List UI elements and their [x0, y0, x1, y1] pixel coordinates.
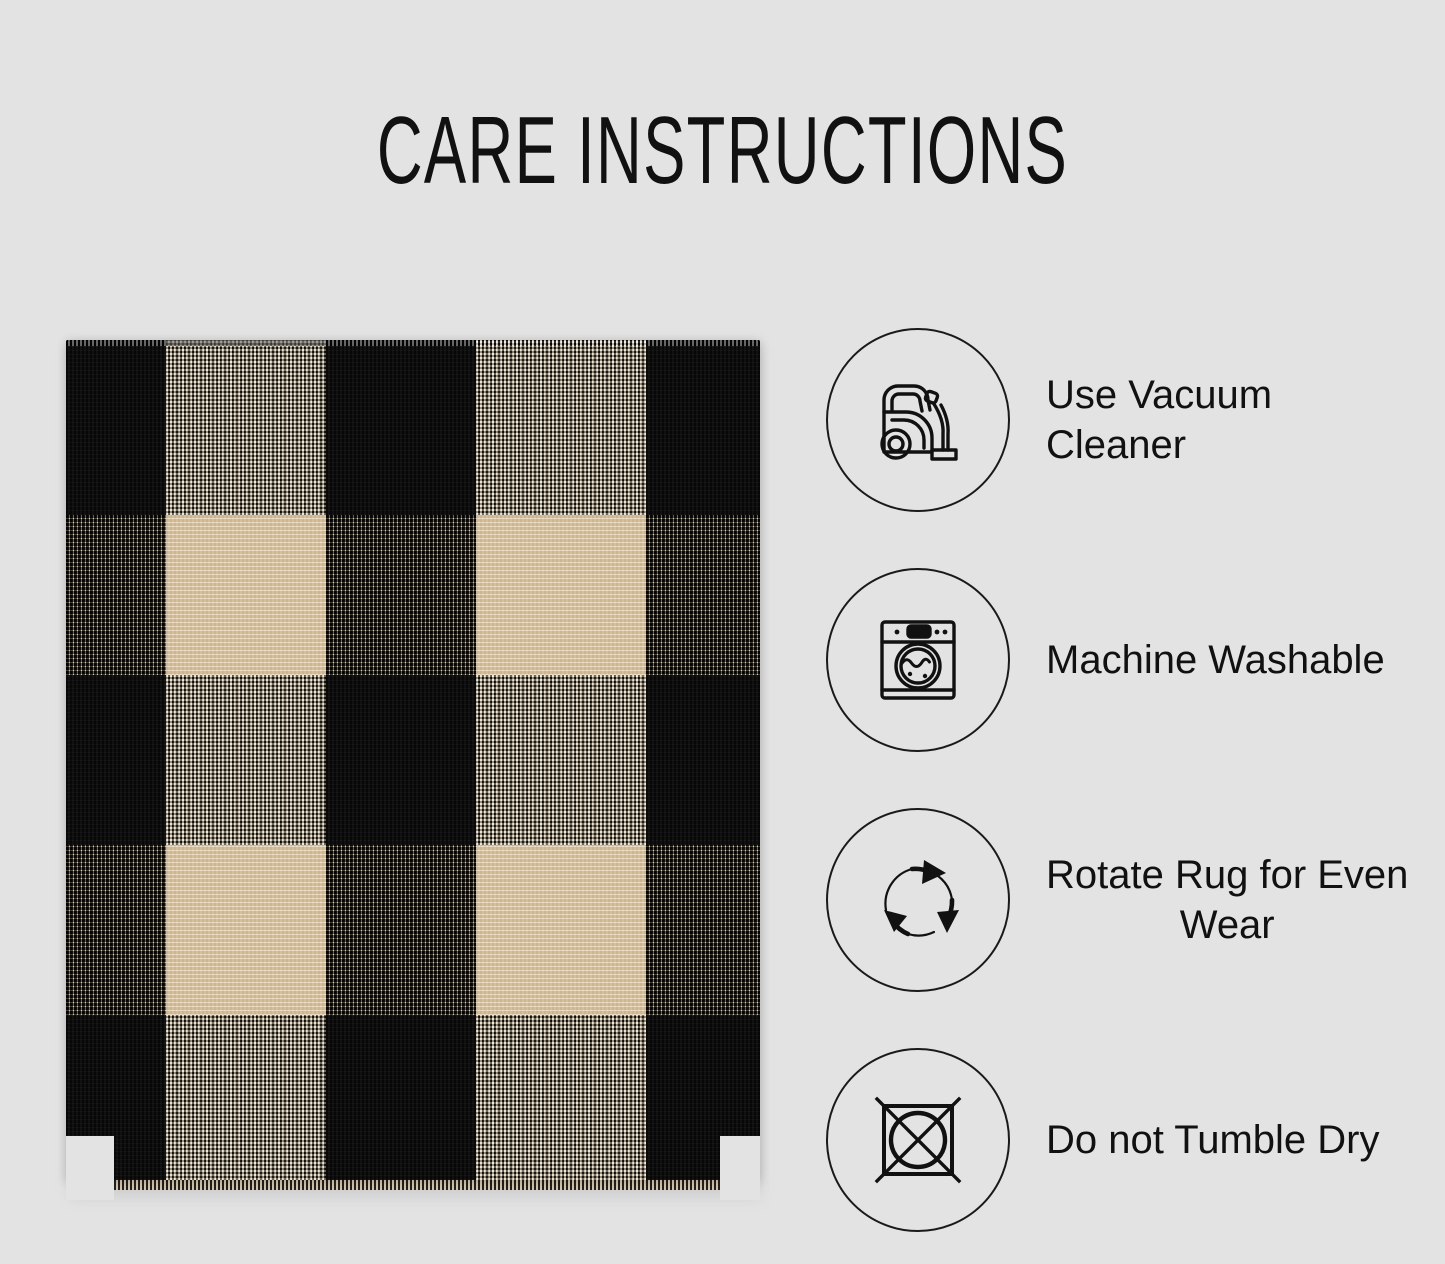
rug-cell	[66, 845, 166, 1015]
care-item-label: Machine Washable	[1046, 635, 1385, 685]
care-item-use-vacuum-cleaner: Use Vacuum Cleaner	[826, 300, 1426, 540]
rug-cell	[166, 515, 326, 675]
rug-cell	[646, 340, 760, 515]
rug-cell	[166, 675, 326, 845]
rug-cell	[326, 675, 476, 845]
rug-cell	[326, 1015, 476, 1180]
care-item-label-line2: Wear	[1180, 903, 1275, 947]
rug-cell	[646, 675, 760, 845]
washing-machine-icon	[826, 568, 1010, 752]
care-item-label: Use Vacuum Cleaner	[1046, 370, 1416, 470]
rug-fold-notch-left	[66, 1136, 114, 1200]
vacuum-cleaner-icon	[826, 328, 1010, 512]
care-item-label: Rotate Rug for Even Wear	[1046, 850, 1408, 950]
page-title: CARE INSTRUCTIONS	[246, 96, 1200, 206]
care-item-label: Do not Tumble Dry	[1046, 1115, 1379, 1165]
rotate-arrows-icon	[826, 808, 1010, 992]
rug-cell	[646, 515, 760, 675]
rug-plaid-weave	[66, 340, 760, 1180]
rug-cell	[326, 515, 476, 675]
rug-cell	[326, 340, 476, 515]
rug-cell	[476, 1015, 646, 1180]
rug-cell	[66, 675, 166, 845]
rug-cell	[166, 845, 326, 1015]
do-not-tumble-dry-icon	[826, 1048, 1010, 1232]
rug-cell	[66, 515, 166, 675]
rug-cell	[476, 675, 646, 845]
care-item-label-line1: Rotate Rug for Even	[1046, 853, 1408, 897]
rug-cell	[326, 845, 476, 1015]
rug-cell	[166, 340, 326, 515]
rug-cell	[476, 340, 646, 515]
care-item-rotate-rug-for-even-wear: Rotate Rug for Even Wear	[826, 780, 1426, 1020]
rug-cell	[476, 845, 646, 1015]
care-item-machine-washable: Machine Washable	[826, 540, 1426, 780]
care-item-do-not-tumble-dry: Do not Tumble Dry	[826, 1020, 1426, 1260]
rug-product-image	[66, 340, 760, 1200]
rug-fold-notch-right	[720, 1136, 760, 1200]
rug-cell	[646, 845, 760, 1015]
rug-cell	[66, 340, 166, 515]
care-instruction-list: Use Vacuum Cleaner	[826, 300, 1426, 1260]
rug-cell	[166, 1015, 326, 1180]
rug-cell	[476, 515, 646, 675]
